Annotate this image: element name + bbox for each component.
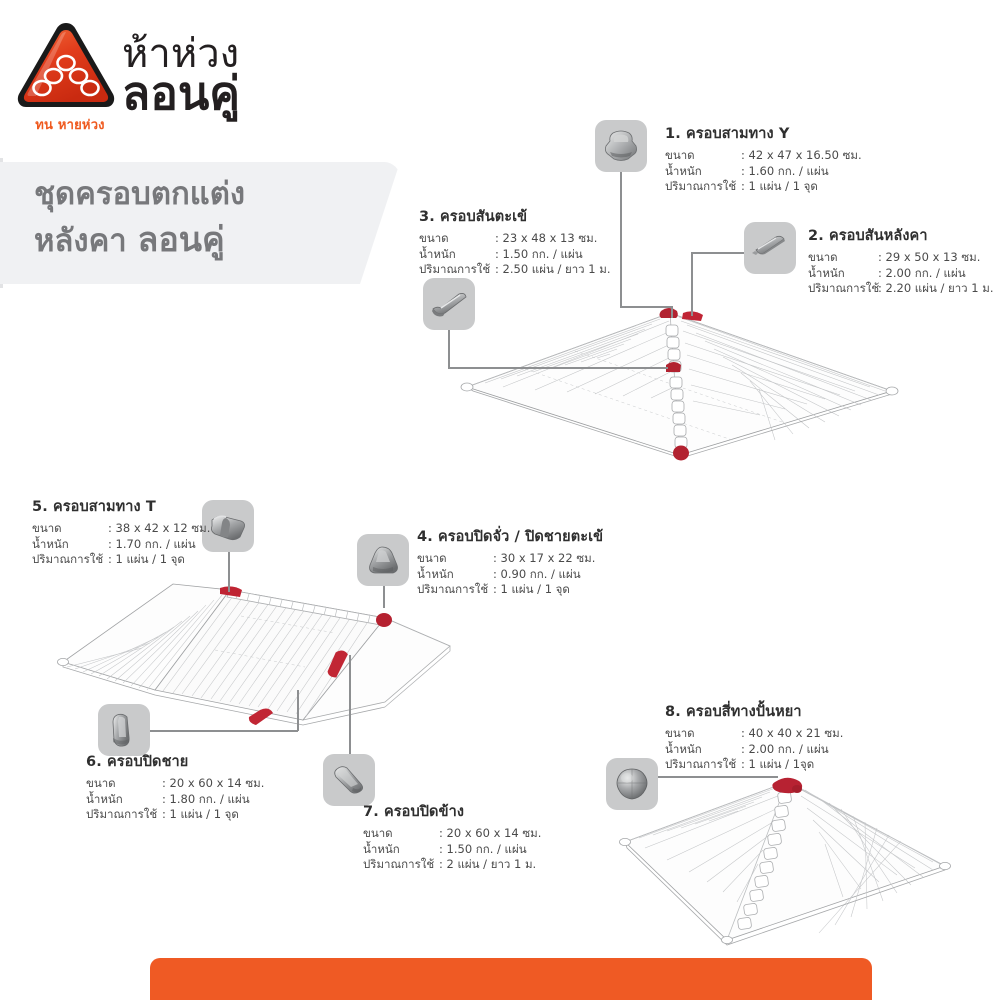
spec-row-weight-2: น้ำหนัก : 2.00 กก. / แผ่น: [808, 266, 994, 282]
label-usage-1: ปริมาณการใช้: [665, 179, 741, 195]
value-size-8: : 40 x 40 x 21 ซม.: [741, 726, 843, 742]
value-usage-8: : 1 แผ่น / 1จุด: [741, 757, 814, 773]
spec-row-weight-7: น้ำหนัก : 1.50 กก. / แผ่น: [363, 842, 541, 858]
label-usage-3: ปริมาณการใช้: [419, 262, 495, 278]
leader-line-item3-v: [448, 330, 450, 368]
spec-row-size-3: ขนาด : 23 x 48 x 13 ซม.: [419, 231, 611, 247]
leader-line-item6-h: [150, 730, 298, 732]
label-size-7: ขนาด: [363, 826, 439, 842]
spec-row-size-5: ขนาด : 38 x 42 x 12 ซม.: [32, 521, 210, 537]
spec-heading-7: 7. ครอบปิดข้าง: [363, 800, 541, 823]
value-weight-2: : 2.00 กก. / แผ่น: [878, 266, 966, 282]
thumbnail-item6[interactable]: [98, 704, 150, 756]
leader-line-item6-v: [297, 690, 299, 731]
value-size-7: : 20 x 60 x 14 ซม.: [439, 826, 541, 842]
leader-line-item8-h: [658, 776, 778, 778]
value-size-5: : 38 x 42 x 12 ซม.: [108, 521, 210, 537]
value-usage-2: : 2.20 แผ่น / ยาว 1 ม.: [878, 281, 994, 297]
value-usage-6: : 1 แผ่น / 1 จุด: [162, 807, 239, 823]
value-usage-4: : 1 แผ่น / 1 จุด: [493, 582, 570, 598]
label-usage-5: ปริมาณการใช้: [32, 552, 108, 568]
eave-end-cap-icon: [108, 711, 140, 749]
leader-line-item2-h: [691, 252, 745, 254]
label-weight-2: น้ำหนัก: [808, 266, 878, 282]
spec-row-size-1: ขนาด : 42 x 47 x 16.50 ซม.: [665, 148, 862, 164]
gable-end-cap-icon: [365, 544, 401, 576]
spec-row-weight-6: น้ำหนัก : 1.80 กก. / แผ่น: [86, 792, 264, 808]
value-weight-1: : 1.60 กก. / แผ่น: [741, 164, 829, 180]
spec-item-1: 1. ครอบสามทาง Y ขนาด : 42 x 47 x 16.50 ซ…: [665, 122, 862, 195]
side-barge-cap-icon: [331, 763, 367, 797]
label-size-3: ขนาด: [419, 231, 495, 247]
leader-line-item1-v: [620, 172, 622, 307]
spec-row-usage-5: ปริมาณการใช้ : 1 แผ่น / 1 จุด: [32, 552, 210, 568]
thumbnail-item4[interactable]: [357, 534, 409, 586]
spec-row-weight-5: น้ำหนัก : 1.70 กก. / แผ่น: [32, 537, 210, 553]
leader-line-item3-h: [448, 367, 668, 369]
spec-row-usage-8: ปริมาณการใช้ : 1 แผ่น / 1จุด: [665, 757, 843, 773]
value-usage-3: : 2.50 แผ่น / ยาว 1 ม.: [495, 262, 611, 278]
label-weight-8: น้ำหนัก: [665, 742, 741, 758]
spec-row-usage-4: ปริมาณการใช้ : 1 แผ่น / 1 จุด: [417, 582, 603, 598]
thumbnail-item2[interactable]: [744, 222, 796, 274]
leader-line-item5-v: [228, 552, 230, 592]
marker-group: [772, 778, 802, 793]
spec-heading-2: 2. ครอบสันหลังคา: [808, 224, 994, 247]
label-size-4: ขนาด: [417, 551, 493, 567]
value-size-2: : 29 x 50 x 13 ซม.: [878, 250, 980, 266]
infographic-page: ทน หายห่วง ห้าห่วง ลอนคู่ ชุดครอบตกแต่ง …: [0, 0, 1000, 1000]
spec-heading-6: 6. ครอบปิดชาย: [86, 750, 264, 773]
thumbnail-item8[interactable]: [606, 758, 658, 810]
value-weight-6: : 1.80 กก. / แผ่น: [162, 792, 250, 808]
value-weight-5: : 1.70 กก. / แผ่น: [108, 537, 196, 553]
label-size-6: ขนาด: [86, 776, 162, 792]
spec-row-size-7: ขนาด : 20 x 60 x 14 ซม.: [363, 826, 541, 842]
value-usage-5: : 1 แผ่น / 1 จุด: [108, 552, 185, 568]
page-title-line1: ชุดครอบตกแต่ง: [34, 176, 245, 212]
spec-row-weight-8: น้ำหนัก : 2.00 กก. / แผ่น: [665, 742, 843, 758]
spec-heading-4: 4. ครอบปิดจั่ว / ปิดชายตะเข้: [417, 525, 603, 548]
label-usage-6: ปริมาณการใช้: [86, 807, 162, 823]
label-size-1: ขนาด: [665, 148, 741, 164]
value-weight-8: : 2.00 กก. / แผ่น: [741, 742, 829, 758]
ridge-cap-icon: [750, 232, 790, 264]
pyramid-roof-diagram: [615, 770, 955, 950]
spec-item-3: 3. ครอบสันตะเข้ ขนาด : 23 x 48 x 13 ซม. …: [419, 205, 611, 278]
value-size-1: : 42 x 47 x 16.50 ซม.: [741, 148, 862, 164]
value-usage-1: : 1 แผ่น / 1 จุด: [741, 179, 818, 195]
label-size-8: ขนาด: [665, 726, 741, 742]
page-title-line2: หลังคา ลอนคู่: [34, 222, 225, 259]
label-weight-5: น้ำหนัก: [32, 537, 108, 553]
logo-caption: ทน หายห่วง: [18, 114, 122, 135]
leader-line-item7-v: [349, 655, 351, 754]
y-ridge-cap-icon: [602, 128, 640, 164]
spec-item-5: 5. ครอบสามทาง T ขนาด : 38 x 42 x 12 ซม. …: [32, 495, 210, 568]
spec-row-size-6: ขนาด : 20 x 60 x 14 ซม.: [86, 776, 264, 792]
spec-row-usage-7: ปริมาณการใช้ : 2 แผ่น / ยาว 1 ม.: [363, 857, 541, 873]
spec-row-size-8: ขนาด : 40 x 40 x 21 ซม.: [665, 726, 843, 742]
value-size-4: : 30 x 17 x 22 ซม.: [493, 551, 595, 567]
spec-row-usage-2: ปริมาณการใช้ : 2.20 แผ่น / ยาว 1 ม.: [808, 281, 994, 297]
page-title-line2-b: ลอนคู่: [138, 220, 225, 260]
page-title-line2-a: หลังคา: [34, 223, 138, 259]
spec-row-weight-1: น้ำหนัก : 1.60 กก. / แผ่น: [665, 164, 862, 180]
thumbnail-item7[interactable]: [323, 754, 375, 806]
label-weight-7: น้ำหนัก: [363, 842, 439, 858]
value-size-6: : 20 x 60 x 14 ซม.: [162, 776, 264, 792]
label-usage-8: ปริมาณการใช้: [665, 757, 741, 773]
spec-item-7: 7. ครอบปิดข้าง ขนาด : 20 x 60 x 14 ซม. น…: [363, 800, 541, 873]
leader-line-item1-v2: [671, 306, 673, 318]
spec-item-8: 8. ครอบสี่ทางปั้นหยา ขนาด : 40 x 40 x 21…: [665, 700, 843, 773]
spec-row-weight-3: น้ำหนัก : 1.50 กก. / แผ่น: [419, 247, 611, 263]
spec-row-weight-4: น้ำหนัก : 0.90 กก. / แผ่น: [417, 567, 603, 583]
spec-heading-5: 5. ครอบสามทาง T: [32, 495, 210, 518]
spec-row-size-4: ขนาด : 30 x 17 x 22 ซม.: [417, 551, 603, 567]
value-weight-3: : 1.50 กก. / แผ่น: [495, 247, 583, 263]
thumbnail-item1[interactable]: [595, 120, 647, 172]
spec-heading-1: 1. ครอบสามทาง Y: [665, 122, 862, 145]
spec-row-usage-1: ปริมาณการใช้ : 1 แผ่น / 1 จุด: [665, 179, 862, 195]
triangle-five-rings-logo-icon: [14, 18, 118, 114]
spec-item-2: 2. ครอบสันหลังคา ขนาด : 29 x 50 x 13 ซม.…: [808, 224, 994, 297]
spec-heading-3: 3. ครอบสันตะเข้: [419, 205, 611, 228]
hip-roof-diagram: [455, 295, 905, 475]
spec-row-usage-3: ปริมาณการใช้ : 2.50 แผ่น / ยาว 1 ม.: [419, 262, 611, 278]
bottom-accent-bar: [150, 958, 872, 1000]
label-usage-4: ปริมาณการใช้: [417, 582, 493, 598]
spec-row-size-2: ขนาด : 29 x 50 x 13 ซม.: [808, 250, 994, 266]
label-weight-4: น้ำหนัก: [417, 567, 493, 583]
label-size-5: ขนาด: [32, 521, 108, 537]
four-way-hip-cap-icon: [613, 766, 651, 802]
spec-item-4: 4. ครอบปิดจั่ว / ปิดชายตะเข้ ขนาด : 30 x…: [417, 525, 603, 598]
spec-heading-8: 8. ครอบสี่ทางปั้นหยา: [665, 700, 843, 723]
brand-name-line2: ลอนคู่: [122, 70, 240, 116]
value-weight-7: : 1.50 กก. / แผ่น: [439, 842, 527, 858]
label-weight-3: น้ำหนัก: [419, 247, 495, 263]
leader-line-item2-v: [691, 252, 693, 316]
thumbnail-item3[interactable]: [423, 278, 475, 330]
value-weight-4: : 0.90 กก. / แผ่น: [493, 567, 581, 583]
t-ridge-cap-icon: [208, 510, 248, 542]
leader-line-item1-h: [620, 306, 672, 308]
value-size-3: : 23 x 48 x 13 ซม.: [495, 231, 597, 247]
value-usage-7: : 2 แผ่น / ยาว 1 ม.: [439, 857, 536, 873]
brand-logo: ทน หายห่วง ห้าห่วง ลอนคู่: [14, 18, 414, 138]
label-usage-2: ปริมาณการใช้: [808, 281, 878, 297]
label-usage-7: ปริมาณการใช้: [363, 857, 439, 873]
spec-item-6: 6. ครอบปิดชาย ขนาด : 20 x 60 x 14 ซม. น้…: [86, 750, 264, 823]
label-size-2: ขนาด: [808, 250, 878, 266]
leader-line-item4-v: [383, 586, 385, 608]
hip-cap-icon: [429, 289, 469, 319]
label-weight-1: น้ำหนัก: [665, 164, 741, 180]
label-weight-6: น้ำหนัก: [86, 792, 162, 808]
spec-row-usage-6: ปริมาณการใช้ : 1 แผ่น / 1 จุด: [86, 807, 264, 823]
